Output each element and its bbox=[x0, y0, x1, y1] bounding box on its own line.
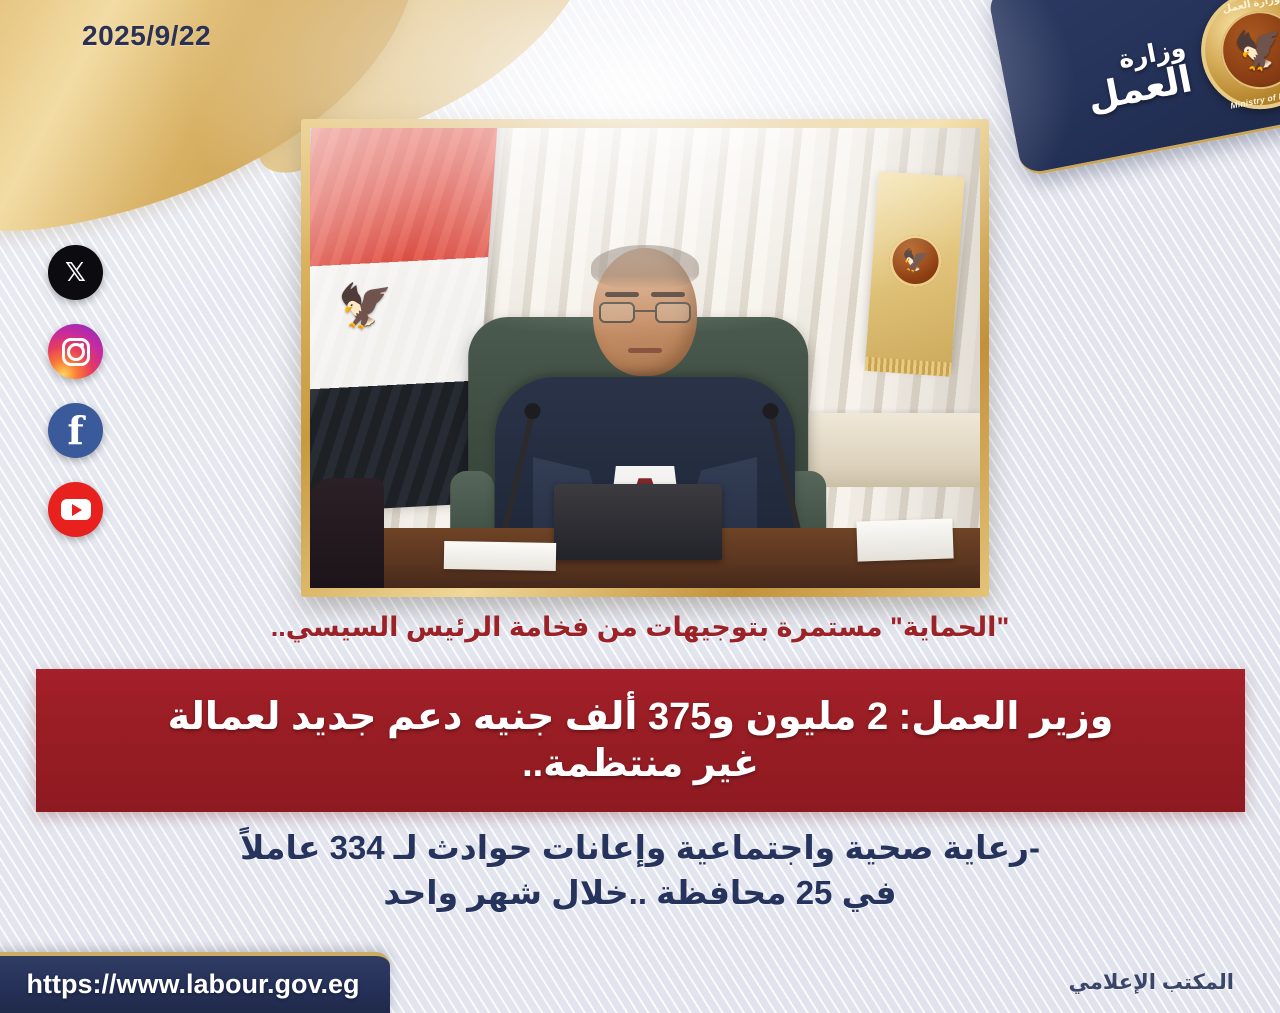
seal-top-text: وزارة العمل bbox=[1222, 0, 1280, 15]
media-office-label: المكتب الإعلامي bbox=[1069, 970, 1234, 995]
facebook-icon[interactable]: f bbox=[48, 403, 103, 458]
laptop-screen bbox=[554, 484, 722, 560]
ministry-logo-content: وزارة العمل Ministry of Labour 🦅 وزارة ا… bbox=[987, 0, 1280, 178]
hair bbox=[591, 245, 699, 289]
instagram-glyph bbox=[62, 338, 90, 366]
youtube-icon[interactable] bbox=[48, 482, 103, 537]
publish-date: 2025/9/22 bbox=[82, 20, 211, 52]
seal-ring: وزارة العمل Ministry of Labour bbox=[1191, 0, 1280, 119]
instagram-icon[interactable] bbox=[48, 324, 103, 379]
ceremonial-banner: 🦅 bbox=[865, 171, 964, 367]
minister-photo: 🦅 🦅 bbox=[310, 128, 980, 588]
mouth bbox=[628, 348, 662, 353]
website-url: https://www.labour.gov.eg bbox=[27, 969, 360, 1000]
kicker-text: "الحماية" مستمرة بتوجيهات من فخامة الرئي… bbox=[162, 612, 1118, 643]
headline-banner: وزير العمل: 2 مليون و375 ألف جنيه دعم جد… bbox=[36, 669, 1245, 812]
youtube-glyph bbox=[61, 499, 91, 520]
ministry-seal-icon: وزارة العمل Ministry of Labour 🦅 bbox=[1191, 0, 1280, 119]
ministry-name: وزارة العمل bbox=[1080, 36, 1195, 117]
attendee-silhouette bbox=[310, 478, 384, 588]
x-glyph: 𝕏 bbox=[65, 258, 86, 288]
social-links: 𝕏 f bbox=[48, 245, 103, 537]
headline-line2: غير منتظمة.. bbox=[522, 742, 759, 787]
eyebrow-left bbox=[605, 292, 639, 297]
photo-frame: 🦅 🦅 bbox=[301, 119, 989, 597]
lens-right bbox=[655, 302, 691, 323]
flag-eagle-icon: 🦅 bbox=[337, 276, 393, 333]
lens-left bbox=[599, 302, 635, 323]
website-url-banner[interactable]: https://www.labour.gov.eg bbox=[0, 952, 390, 1013]
subheadline-line2: في 25 محافظة ..خلال شهر واحد bbox=[60, 871, 1220, 916]
eyebrow-right bbox=[651, 292, 685, 297]
subheadline: -رعاية صحية واجتماعية وإعانات حوادث لـ 3… bbox=[60, 826, 1220, 915]
subheadline-line1: -رعاية صحية واجتماعية وإعانات حوادث لـ 3… bbox=[240, 829, 1040, 866]
x-twitter-icon[interactable]: 𝕏 bbox=[48, 245, 103, 300]
document-stack bbox=[857, 519, 954, 562]
head bbox=[593, 248, 697, 376]
eyeglasses bbox=[599, 302, 691, 324]
facebook-glyph: f bbox=[67, 415, 83, 446]
news-poster: 2025/9/22 وزارة العمل Ministry of Labour… bbox=[0, 0, 1280, 1013]
seal-bottom-text: Ministry of Labour bbox=[1230, 86, 1280, 111]
document-stack-secondary bbox=[444, 541, 556, 571]
headline-line1: وزير العمل: 2 مليون و375 ألف جنيه دعم جد… bbox=[168, 695, 1114, 740]
glasses-bridge bbox=[635, 310, 655, 312]
banner-emblem-icon: 🦅 bbox=[888, 234, 944, 290]
